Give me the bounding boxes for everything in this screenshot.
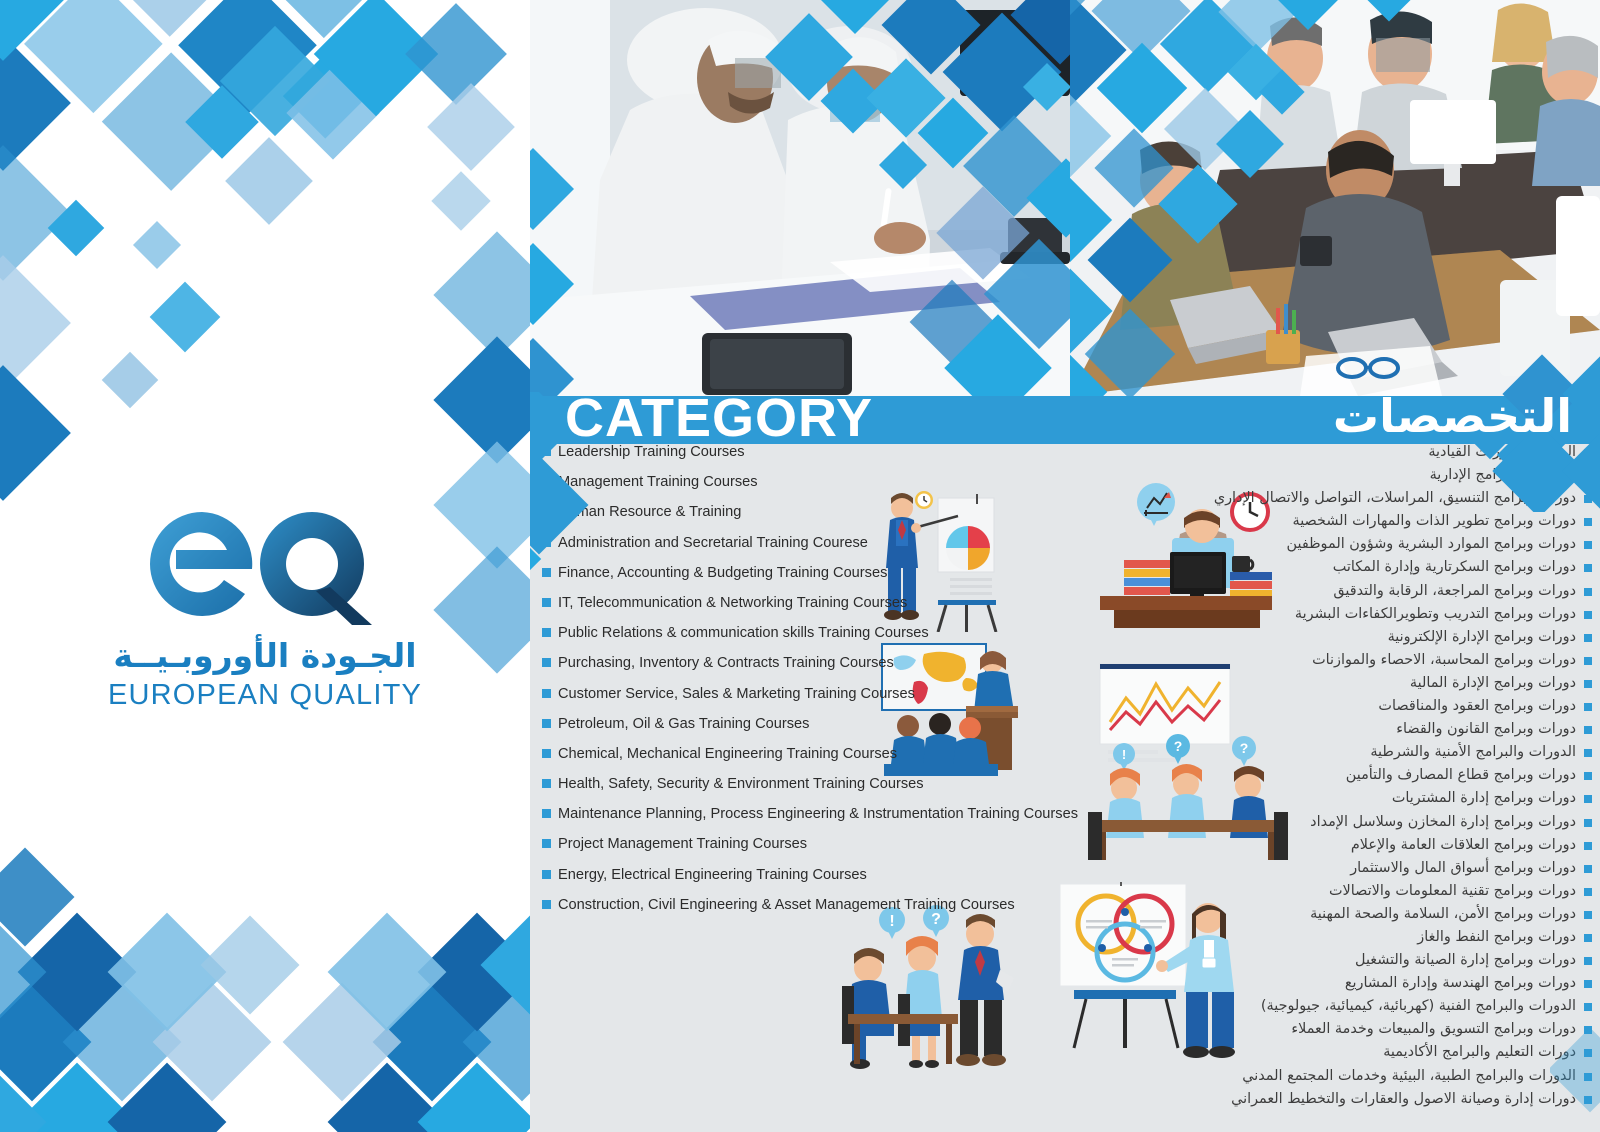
category-item-label: الدورات والبرامج الفنية (كهربائية، كيميا… [1261,998,1576,1015]
bullet-square-icon [542,839,551,848]
category-item-label: Construction, Civil Engineering & Asset … [558,897,1015,913]
category-item-label: دورات وبرامج السكرتارية وإدارة المكاتب [1333,559,1576,576]
category-item-en[interactable]: Public Relations & communication skills … [542,625,1052,641]
front-cover-panel: CATEGORY التخصصات [530,0,1600,1132]
category-item-label: دورات وبرامج إدارة المشتريات [1392,790,1576,807]
category-item-ar[interactable]: دورات وبرامج المراجعة، الرقابة والتدقيق [1172,583,1592,600]
category-item-label: Health, Safety, Security & Environment T… [558,776,924,792]
category-item-label: دورات وبرامج إدارة الصيانة والتشغيل [1355,952,1576,969]
category-item-en[interactable]: Petroleum, Oil & Gas Training Courses [542,716,1052,732]
category-item-label: Chemical, Mechanical Engineering Trainin… [558,746,897,762]
bullet-square-icon [542,809,551,818]
category-item-ar[interactable]: دورات وبرامج الموارد البشرية وشؤون الموظ… [1172,536,1592,553]
bullet-square-icon [542,598,551,607]
bullet-square-icon [1584,634,1592,642]
category-item-ar[interactable]: دورات وبرامج الإدارة المالية [1172,675,1592,692]
category-item-ar[interactable]: الدورات والبرامج الطبية، البيئية وخدمات … [1172,1068,1592,1085]
bullet-square-icon [542,719,551,728]
category-item-ar[interactable]: دورات وبرامج إدارة الصيانة والتشغيل [1172,952,1592,969]
category-item-en[interactable]: Maintenance Planning, Process Engineerin… [542,806,1052,822]
bullet-square-icon [1584,957,1592,965]
category-item-ar[interactable]: دورات وبرامج التسويق والمبيعات وخدمة الع… [1172,1021,1592,1038]
page-title-arabic: التخصصات [1333,386,1572,446]
brand-name-english: EUROPEAN QUALITY [0,679,530,712]
category-item-label: Customer Service, Sales & Marketing Trai… [558,686,915,702]
eq-logo-icon [140,495,390,630]
category-item-label: دورات التعليم والبرامج الأكاديمية [1383,1044,1576,1061]
bullet-square-icon [1584,657,1592,665]
category-item-label: دورات وبرامج التسويق والمبيعات وخدمة الع… [1291,1021,1576,1038]
bullet-square-icon [1584,772,1592,780]
bottom-right-diamond-decoration [1550,1030,1600,1132]
bullet-square-icon [1584,564,1592,572]
bullet-square-icon [1584,588,1592,596]
category-item-label: دورات وبرامج إدارة المخازن وسلاسل الإمدا… [1310,814,1576,831]
category-item-ar[interactable]: دورات وبرامج القانون والقضاء [1172,721,1592,738]
bullet-square-icon [1584,980,1592,988]
category-item-ar[interactable]: دورات وبرامج العلاقات العامة والإعلام [1172,837,1592,854]
category-item-ar[interactable]: دورات وبرامج النفط والغاز [1172,929,1592,946]
diamond-overlay-right-photo [1070,0,1600,396]
category-item-ar[interactable]: الدورات والبرامج الأمنية والشرطية [1172,744,1592,761]
category-item-ar[interactable]: الدورات والبرامج الفنية (كهربائية، كيميا… [1172,998,1592,1015]
category-item-ar[interactable]: دورات وبرامج الإدارة الإلكترونية [1172,629,1592,646]
bullet-square-icon [542,870,551,879]
category-item-en[interactable]: Chemical, Mechanical Engineering Trainin… [542,746,1052,762]
category-item-en[interactable]: Health, Safety, Security & Environment T… [542,776,1052,792]
category-item-en[interactable]: Customer Service, Sales & Marketing Trai… [542,686,1052,702]
bullet-square-icon [542,900,551,909]
category-item-label: Maintenance Planning, Process Engineerin… [558,806,1078,822]
category-item-ar[interactable]: دورات التعليم والبرامج الأكاديمية [1172,1044,1592,1061]
category-item-ar[interactable]: دورات وبرامج إدارة المخازن وسلاسل الإمدا… [1172,814,1592,831]
category-item-en[interactable]: IT, Telecommunication & Networking Train… [542,595,1052,611]
bullet-square-icon [542,658,551,667]
diamond-overlay-left-photo [530,0,1070,396]
category-item-en[interactable]: Purchasing, Inventory & Contracts Traini… [542,655,1052,671]
category-item-label: Purchasing, Inventory & Contracts Traini… [558,655,894,671]
bullet-square-icon [1584,703,1592,711]
category-item-ar[interactable]: دورات وبرامج إدارة المشتريات [1172,790,1592,807]
bullet-square-icon [542,779,551,788]
brand-name-arabic: الجـودة الأوروبـيــة [0,636,530,675]
category-item-ar[interactable]: دورات وبرامج الهندسة وإدارة المشاريع [1172,975,1592,992]
bullet-square-icon [1584,934,1592,942]
bullet-square-icon [542,749,551,758]
category-item-label: دورات وبرامج المراجعة، الرقابة والتدقيق [1333,583,1576,600]
category-item-label: Petroleum, Oil & Gas Training Courses [558,716,809,732]
photo-strip [530,0,1600,396]
category-item-ar[interactable]: دورات وبرامج التدريب وتطويرالكفاءات البش… [1172,606,1592,623]
category-item-label: الدورات والبرامج الطبية، البيئية وخدمات … [1242,1068,1576,1085]
category-item-label: دورات وبرامج التدريب وتطويرالكفاءات البش… [1295,606,1576,623]
category-item-label: دورات وبرامج الموارد البشرية وشؤون الموظ… [1287,536,1576,553]
brochure-page: الجـودة الأوروبـيــة EUROPEAN QUALITY [0,0,1600,1132]
category-item-label: دورات وبرامج الأمن، السلامة والصحة المهن… [1310,906,1576,923]
bullet-square-icon [1584,911,1592,919]
bullet-square-icon [1584,749,1592,757]
category-item-label: دورات وبرامج أسواق المال والاستثمار [1350,860,1576,877]
category-item-label: دورات وبرامج النفط والغاز [1417,929,1576,946]
category-item-en[interactable]: Energy, Electrical Engineering Training … [542,867,1052,883]
category-item-label: دورات وبرامج الإدارة المالية [1410,675,1576,692]
category-item-label: Public Relations & communication skills … [558,625,929,641]
bullet-square-icon [1584,611,1592,619]
bullet-square-icon [1584,819,1592,827]
category-item-label: Energy, Electrical Engineering Training … [558,867,867,883]
category-item-label: دورات وبرامج تقنية المعلومات والاتصالات [1329,883,1576,900]
bullet-square-icon [542,628,551,637]
svg-text:!: ! [1122,747,1126,762]
category-item-label: Project Management Training Courses [558,836,807,852]
category-item-label: دورات وبرامج العقود والمناقصات [1378,698,1576,715]
category-item-ar[interactable]: دورات وبرامج العقود والمناقصات [1172,698,1592,715]
category-item-en[interactable]: Project Management Training Courses [542,836,1052,852]
category-content: ! ? [530,444,1600,1132]
category-list-arabic: البرامج والدورات القياديةالدورات والبرام… [1172,444,1592,1114]
page-title-english: CATEGORY [565,391,873,445]
bullet-square-icon [1584,795,1592,803]
photo-team-collaboration [1070,0,1600,396]
bullet-square-icon [1584,842,1592,850]
category-item-label: دورات وبرامج القانون والقضاء [1396,721,1576,738]
photo-business-meeting-arabic [530,0,1070,396]
category-item-label: دورات وبرامج المحاسبة، الاحصاء والموازنا… [1312,652,1576,669]
category-item-label: دورات وبرامج قطاع المصارف والتأمين [1346,767,1576,784]
bullet-square-icon [1584,888,1592,896]
category-item-ar[interactable]: دورات وبرامج الأمن، السلامة والصحة المهن… [1172,906,1592,923]
category-item-label: IT, Telecommunication & Networking Train… [558,595,907,611]
category-item-ar[interactable]: دورات إدارة وصيانة الاصول والعقارات والت… [1172,1091,1592,1108]
category-item-ar[interactable]: دورات وبرامج تقنية المعلومات والاتصالات [1172,883,1592,900]
category-item-label: دورات وبرامج الهندسة وإدارة المشاريع [1345,975,1576,992]
category-item-ar[interactable]: دورات وبرامج أسواق المال والاستثمار [1172,860,1592,877]
bullet-square-icon [542,689,551,698]
category-item-ar[interactable]: دورات وبرامج المحاسبة، الاحصاء والموازنا… [1172,652,1592,669]
category-item-ar[interactable]: دورات وبرامج قطاع المصارف والتأمين [1172,767,1592,784]
back-cover-panel: الجـودة الأوروبـيــة EUROPEAN QUALITY [0,0,530,1132]
bullet-square-icon [1584,1003,1592,1011]
category-item-label: الدورات والبرامج الأمنية والشرطية [1370,744,1576,761]
bullet-square-icon [1584,680,1592,688]
category-item-ar[interactable]: دورات وبرامج السكرتارية وإدارة المكاتب [1172,559,1592,576]
category-item-label: دورات وبرامج العلاقات العامة والإعلام [1351,837,1576,854]
category-item-en[interactable]: Construction, Civil Engineering & Asset … [542,897,1052,913]
category-item-label: دورات إدارة وصيانة الاصول والعقارات والت… [1231,1091,1576,1108]
category-item-label: دورات وبرامج الإدارة الإلكترونية [1388,629,1576,646]
brand-logo: الجـودة الأوروبـيــة EUROPEAN QUALITY [0,495,530,712]
bullet-square-icon [1584,865,1592,873]
bullet-square-icon [1584,541,1592,549]
bullet-square-icon [1584,726,1592,734]
